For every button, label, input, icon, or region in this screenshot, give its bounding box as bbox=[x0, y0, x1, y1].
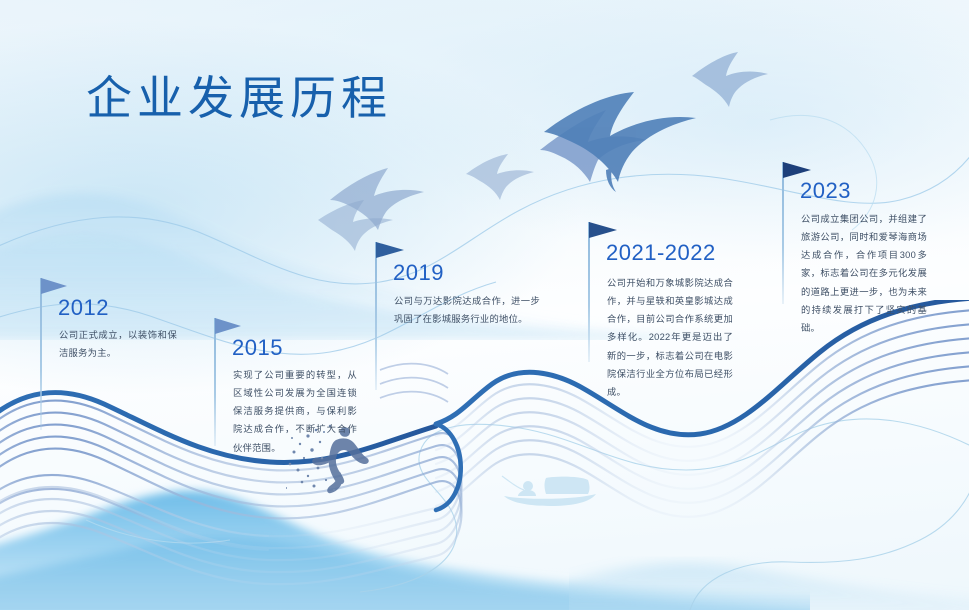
bird-icon bbox=[544, 92, 696, 192]
flag-pole bbox=[40, 278, 42, 430]
milestone-description: 公司与万达影院达成合作，进一步巩固了在影城服务行业的地位。 bbox=[394, 292, 540, 328]
flag-icon bbox=[589, 222, 617, 238]
milestone-year: 2012 bbox=[58, 295, 109, 321]
flag-icon bbox=[41, 278, 67, 294]
mountain-wash-lower bbox=[0, 440, 810, 610]
fisherman-boat-icon bbox=[494, 462, 606, 514]
page-title: 企业发展历程 bbox=[86, 62, 392, 128]
milestone-description: 实现了公司重要的转型，从区域性公司发展为全国连锁保洁服务提供商，与保利影院达成合… bbox=[233, 366, 357, 457]
flag-icon bbox=[215, 318, 241, 334]
bird-icon bbox=[330, 168, 424, 230]
mountain-wash-right bbox=[569, 500, 969, 610]
milestone-description: 公司成立集团公司，并组建了旅游公司，同时和爱琴海商场达成合作，合作项目300多家… bbox=[801, 210, 927, 337]
bird-icon bbox=[540, 110, 646, 182]
bird-icon bbox=[466, 154, 534, 200]
flag-pole bbox=[214, 318, 216, 446]
flag-icon bbox=[783, 162, 811, 178]
flag-icon bbox=[376, 242, 404, 258]
milestone-description: 公司正式成立，以装饰和保洁服务为主。 bbox=[59, 326, 177, 362]
flag-pole bbox=[782, 162, 784, 304]
milestone-year: 2021-2022 bbox=[606, 240, 716, 266]
milestone-description: 公司开始和万象城影院达成合作，并与星轶和英皇影城达成合作，目前公司合作系统更加多… bbox=[607, 274, 733, 401]
bird-icon bbox=[692, 52, 768, 107]
flag-pole bbox=[375, 242, 377, 390]
milestone-year: 2019 bbox=[393, 260, 444, 286]
flag-pole bbox=[588, 222, 590, 362]
poster-canvas: 2012公司正式成立，以装饰和保洁服务为主。2015实现了公司重要的转型，从区域… bbox=[0, 0, 969, 610]
milestone-year: 2023 bbox=[800, 178, 851, 204]
milestone-year: 2015 bbox=[232, 335, 283, 361]
